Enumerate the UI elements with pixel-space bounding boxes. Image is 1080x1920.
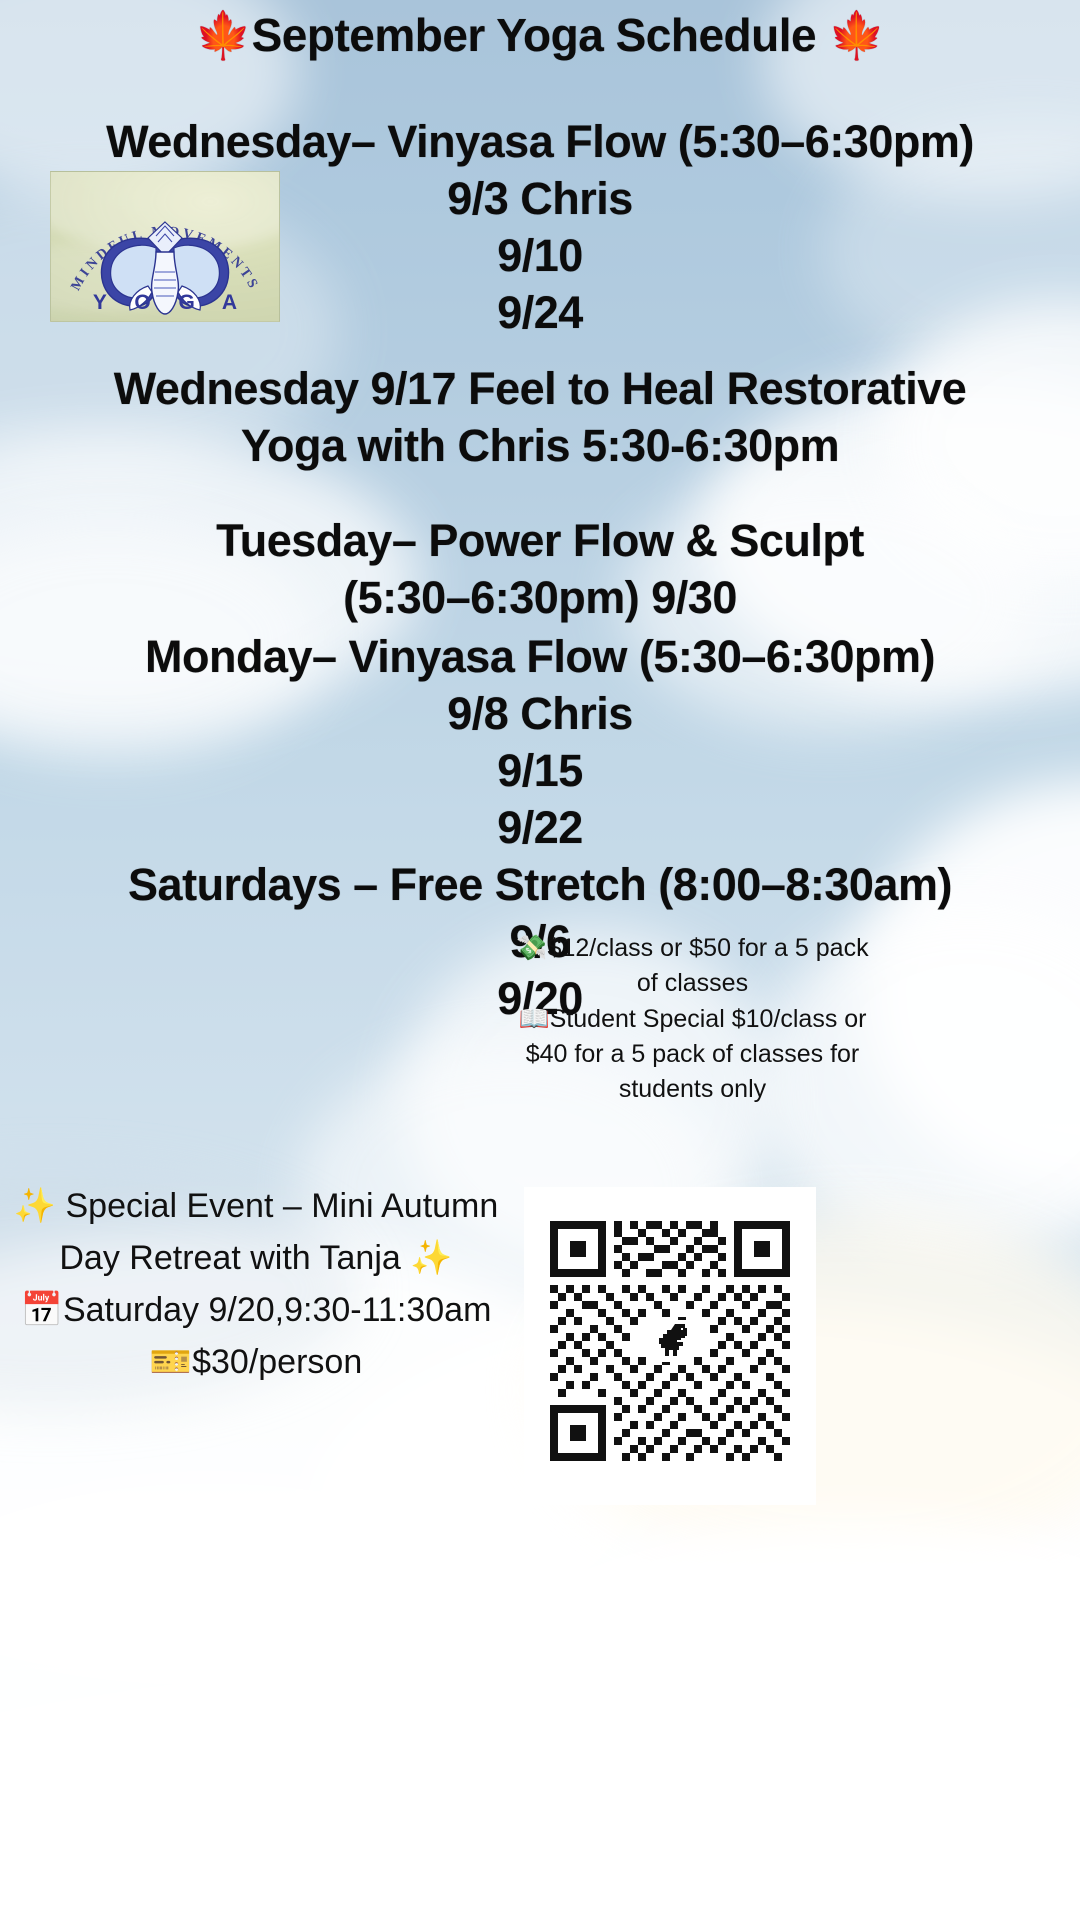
special-event-title: ✨ Special Event – Mini Autumn Day Retrea…: [10, 1180, 502, 1284]
schedule-date: 9/22: [0, 799, 1080, 856]
pricing-student-text: Student Special $10/class or $40 for a 5…: [526, 1005, 867, 1103]
schedule-heading-monday: Monday– Vinyasa Flow (5:30–6:30pm): [0, 628, 1080, 685]
calendar-icon: 📅: [21, 1290, 63, 1330]
ticket-icon: 🎫: [150, 1342, 192, 1382]
maple-leaf-icon: 🍁: [828, 8, 885, 62]
schedule-heading-wednesday-vinyasa: Wednesday– Vinyasa Flow (5:30–6:30pm): [0, 113, 1080, 170]
pricing-line-student: 📖Student Special $10/class or $40 for a …: [505, 1001, 880, 1107]
schedule-heading-saturday: Saturdays – Free Stretch (8:00–8:30am): [0, 856, 1080, 913]
special-event-block: ✨ Special Event – Mini Autumn Day Retrea…: [10, 1180, 502, 1388]
schedule-heading-wednesday-restorative: Wednesday 9/17 Feel to Heal Restorative …: [110, 360, 970, 474]
sparkles-icon: ✨: [14, 1186, 56, 1226]
special-event-date-text: Saturday 9/20,9:30-11:30am: [63, 1291, 491, 1329]
pricing-line-standard: 💸$12/class or $50 for a 5 pack of classe…: [505, 930, 880, 1001]
money-icon: 💸: [516, 933, 547, 962]
sparkles-icon: ✨: [410, 1238, 452, 1278]
special-event-price-text: $30/person: [192, 1343, 362, 1381]
schedule-date: 9/15: [0, 742, 1080, 799]
logo-mindful-movements-yoga: MINDFUL MOVEMENTS: [50, 171, 280, 322]
dinosaur-icon: [647, 1320, 693, 1362]
poster-content: 🍁September Yoga Schedule 🍁 Wednesday– Vi…: [0, 0, 1080, 1920]
page-title: 🍁September Yoga Schedule 🍁: [0, 6, 1080, 64]
book-icon: 📖: [519, 1004, 550, 1033]
maple-leaf-icon: 🍁: [195, 8, 252, 62]
special-event-date: 📅Saturday 9/20,9:30-11:30am: [10, 1284, 502, 1336]
logo-wordmark: Y O G A: [51, 291, 279, 315]
schedule-date: 9/8 Chris: [0, 685, 1080, 742]
pricing-block: 💸$12/class or $50 for a 5 pack of classe…: [505, 930, 880, 1107]
special-event-price: 🎫$30/person: [10, 1336, 502, 1388]
schedule-heading-tuesday: Tuesday– Power Flow & Sculpt (5:30–6:30p…: [160, 512, 920, 626]
page-title-text: September Yoga Schedule: [252, 9, 817, 61]
qr-code-card[interactable]: [524, 1187, 816, 1505]
qr-code[interactable]: [550, 1221, 790, 1461]
pricing-standard-text: $12/class or $50 for a 5 pack of classes: [548, 934, 869, 997]
